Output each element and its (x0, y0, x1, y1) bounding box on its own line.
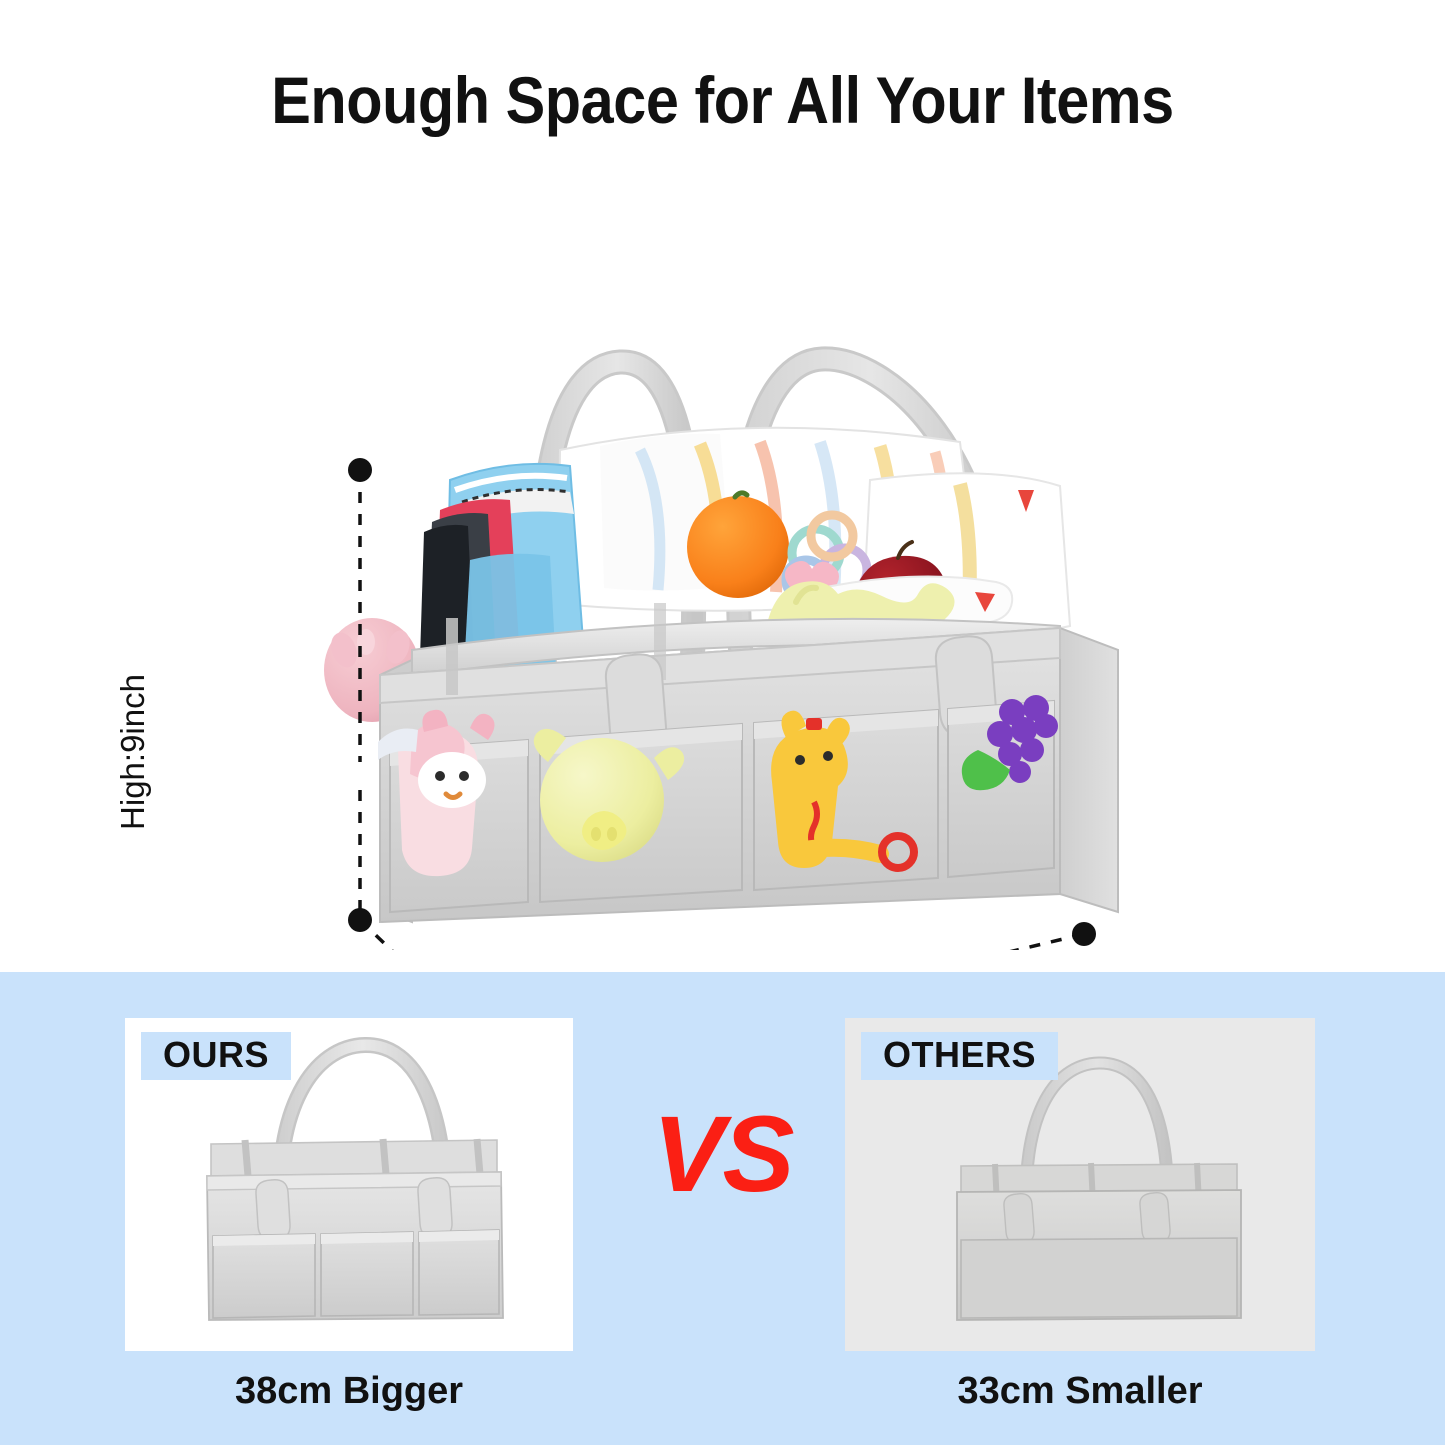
others-card: OTHERS (845, 1018, 1315, 1351)
length-dimension-line (516, 934, 1084, 950)
caddy-illustration (0, 150, 1445, 950)
ours-badge: OURS (141, 1032, 291, 1080)
width-dimension-line (360, 920, 516, 950)
others-badge: OTHERS (861, 1032, 1058, 1080)
hero-panel: Enough Space for All Your Items (0, 0, 1445, 972)
height-dimension-label: High:9inch (114, 602, 152, 902)
page-title: Enough Space for All Your Items (72, 62, 1373, 138)
others-caption: 33cm Smaller (845, 1370, 1315, 1413)
product-hero-image: High:9inch Wide:7inch Length:15inch (0, 150, 1445, 950)
ours-caption: 38cm Bigger (125, 1370, 573, 1413)
comparison-panel: OURS VS (0, 972, 1445, 1445)
